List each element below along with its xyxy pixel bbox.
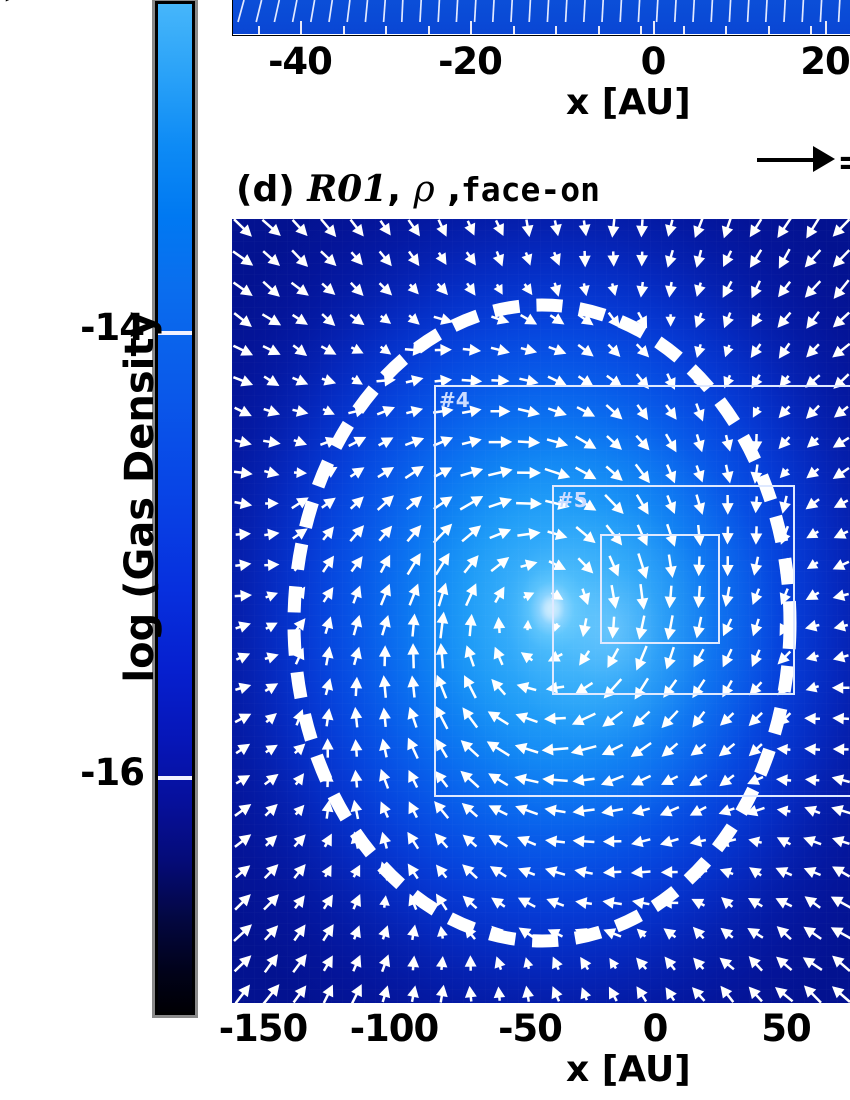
panel-d-label-comma2: , bbox=[447, 169, 461, 210]
velocity-scale-legend: = bbox=[757, 140, 850, 180]
colorbar-gradient bbox=[158, 4, 192, 1012]
refinement-box-6 bbox=[600, 534, 720, 644]
panel-c-image bbox=[232, 0, 850, 34]
panel-d-label-comma1: , bbox=[387, 169, 401, 210]
cutoff-ylabel-glyph: y bbox=[0, 0, 38, 2]
colorbar: -14 -16 log (Gas Density bbox=[152, 0, 198, 1018]
panel-d-title: (d) R01, ρ ,face-on bbox=[234, 168, 602, 212]
panel-c-xtick--20: -20 bbox=[420, 40, 520, 83]
colorbar-tick-line-16 bbox=[158, 776, 192, 780]
refinement-box-4-label: #4 bbox=[439, 388, 470, 412]
colorbar-tick-line-14 bbox=[158, 331, 192, 335]
panel-c-xtick-20: 20 bbox=[775, 40, 850, 83]
figure-root: -14 -16 log (Gas Density -40 -20 0 20 x … bbox=[0, 0, 850, 1100]
panel-d-xtick--150: -150 bbox=[213, 1007, 313, 1050]
panel-d-label-rho: ρ bbox=[413, 169, 434, 210]
panel-d-label-run: R01 bbox=[307, 168, 387, 210]
panel-c-velocity-vectors bbox=[232, 0, 850, 34]
panel-d-xaxis-title: x [AU] bbox=[566, 1049, 691, 1090]
panel-d-xtick-50: 50 bbox=[736, 1007, 836, 1050]
panel-c-xtick-0: 0 bbox=[603, 40, 703, 83]
refinement-box-5-label: #5 bbox=[557, 488, 588, 512]
panel-d-xtick--50: -50 bbox=[480, 1007, 580, 1050]
colorbar-title: log (Gas Density bbox=[117, 177, 163, 817]
velocity-arrow-head-icon bbox=[813, 146, 835, 172]
panel-d-xtick-0: 0 bbox=[605, 1007, 705, 1050]
panel-c-xtick--40: -40 bbox=[250, 40, 350, 83]
panel-c-xaxis-title: x [AU] bbox=[566, 82, 691, 123]
panel-d-xtick--100: -100 bbox=[344, 1007, 444, 1050]
velocity-legend-equals: = bbox=[837, 142, 850, 183]
panel-d-image: #4 #5 bbox=[232, 219, 850, 1003]
panel-d-label-prefix: (d) bbox=[236, 169, 295, 210]
panel-d-label-view: face-on bbox=[461, 170, 600, 209]
